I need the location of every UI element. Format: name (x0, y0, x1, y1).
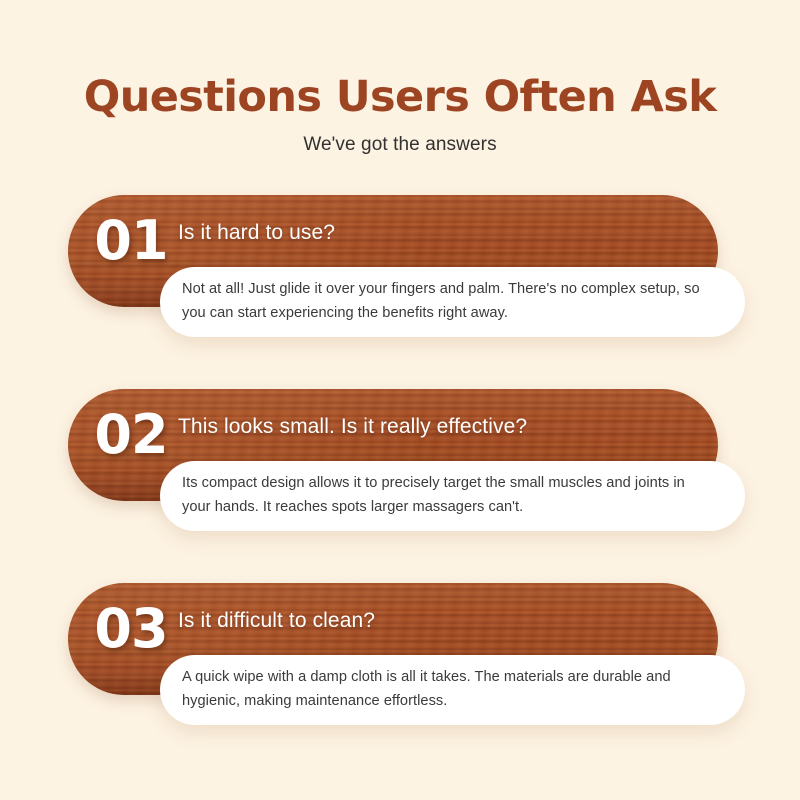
faq-question: Is it hard to use? (178, 221, 700, 245)
faq-question: This looks small. Is it really effective… (178, 415, 700, 439)
faq-answer-text: Not at all! Just glide it over your fing… (160, 278, 745, 325)
faq-answer-card: Its compact design allows it to precisel… (160, 461, 745, 531)
faq-item-02[interactable]: 02 This looks small. Is it really effect… (0, 389, 800, 583)
faq-item-01[interactable]: 01 Is it hard to use? Not at all! Just g… (0, 195, 800, 389)
faq-answer-card: Not at all! Just glide it over your fing… (160, 267, 745, 337)
faq-list: 01 Is it hard to use? Not at all! Just g… (0, 195, 800, 777)
faq-answer-card: A quick wipe with a damp cloth is all it… (160, 655, 745, 725)
faq-answer-text: Its compact design allows it to precisel… (160, 472, 745, 519)
faq-answer-text: A quick wipe with a damp cloth is all it… (160, 666, 745, 713)
faq-item-03[interactable]: 03 Is it difficult to clean? A quick wip… (0, 583, 800, 777)
page-subtitle: We've got the answers (0, 134, 800, 156)
faq-number: 02 (76, 408, 186, 462)
page-title: Questions Users Often Ask (0, 74, 800, 120)
faq-question: Is it difficult to clean? (178, 609, 700, 633)
page-header: Questions Users Often Ask We've got the … (0, 74, 800, 156)
faq-number: 03 (76, 602, 186, 656)
faq-page: Questions Users Often Ask We've got the … (0, 0, 800, 800)
faq-number: 01 (76, 214, 186, 268)
